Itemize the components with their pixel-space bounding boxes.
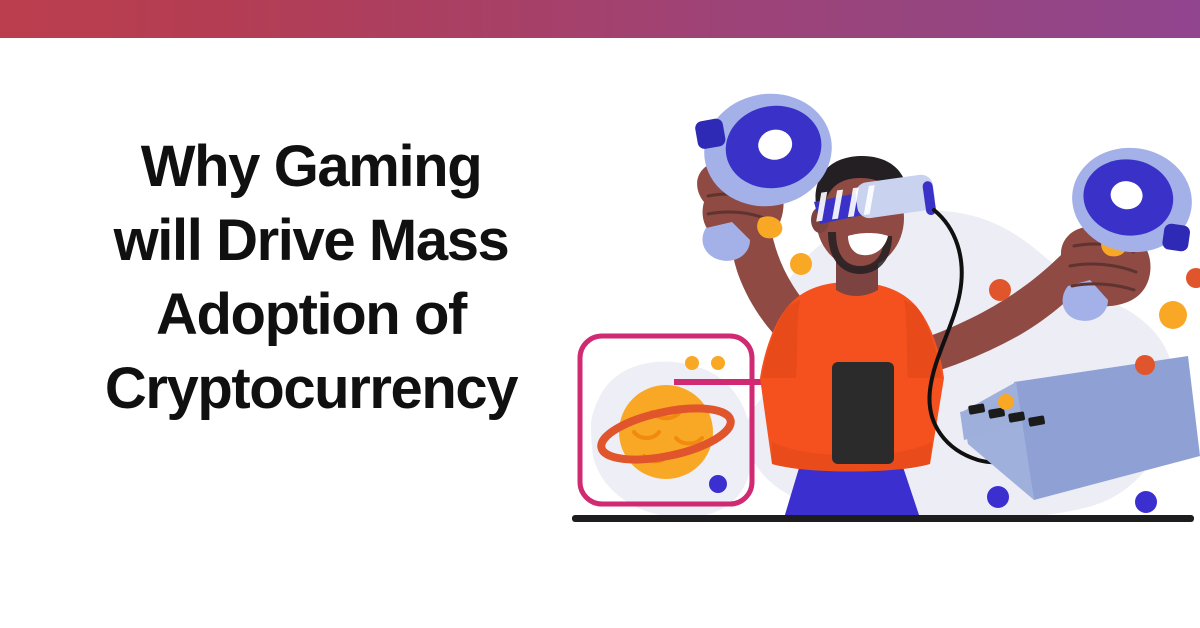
card-dot-blue xyxy=(709,475,727,493)
headline-line-3: Adoption of xyxy=(36,278,586,352)
headline-line-1: Why Gaming xyxy=(36,130,586,204)
ground-baseline xyxy=(572,515,1194,522)
card-divider-line xyxy=(674,379,762,385)
headline-line-4: Cryptocurrency xyxy=(36,352,586,426)
scatter-dot-orange-3 xyxy=(1135,355,1155,375)
scatter-dot-orange-2 xyxy=(1186,268,1200,288)
controller-left-tab xyxy=(694,118,726,150)
scatter-dot-orange-1 xyxy=(989,279,1011,301)
headline-block: Why Gaming will Drive Mass Adoption of C… xyxy=(36,130,586,426)
banner-root: Why Gaming will Drive Mass Adoption of C… xyxy=(0,0,1200,628)
scatter-dot-blue-2 xyxy=(1135,491,1157,513)
scatter-dot-yellow-2 xyxy=(998,394,1014,410)
headline-line-2: will Drive Mass xyxy=(36,204,586,278)
card-dot-yellow-left xyxy=(685,356,699,370)
character-shirt-device xyxy=(832,362,894,464)
scatter-dot-blue-1 xyxy=(987,486,1009,508)
controller-right-tab xyxy=(1162,223,1191,252)
scatter-dot-yellow-1 xyxy=(790,253,812,275)
vr-gamer-illustration xyxy=(548,60,1200,560)
card-dot-yellow-right xyxy=(711,356,725,370)
top-gradient-bar xyxy=(0,0,1200,38)
scatter-dot-yellow-3 xyxy=(1159,301,1187,329)
